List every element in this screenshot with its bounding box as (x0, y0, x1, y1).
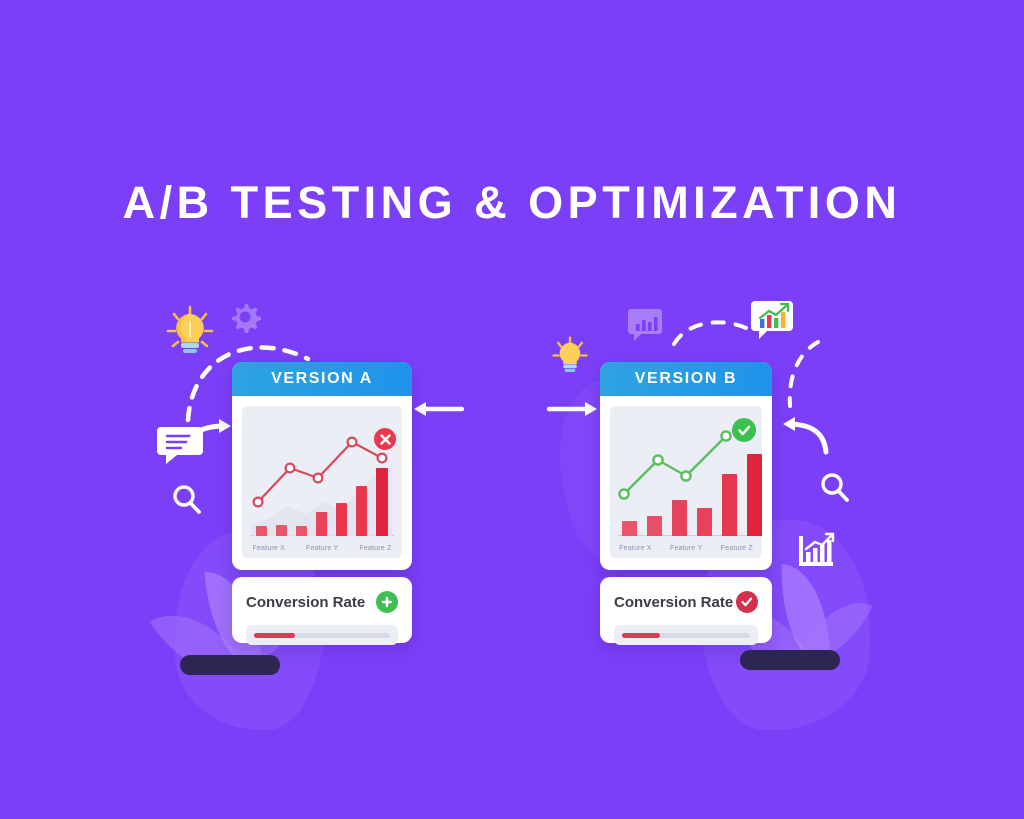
curved-arrow-icon (774, 412, 830, 456)
chart-tick-labels: Feature X Feature Y Feature Z (610, 545, 762, 552)
tick-label: Feature X (252, 545, 285, 552)
tick-label: Feature Y (306, 545, 338, 552)
page-title: A/B TESTING & OPTIMIZATION (0, 174, 1024, 232)
version-b-card[interactable]: VERSION B (600, 362, 772, 570)
check-icon (738, 425, 751, 436)
conversion-rate-label: Conversion Rate (614, 594, 733, 611)
arrow-right-icon (547, 400, 599, 418)
progress-track (254, 633, 390, 638)
device-base (740, 650, 840, 670)
conversion-progress (246, 625, 398, 645)
status-badge (732, 418, 756, 442)
version-a-conversion-card[interactable]: Conversion Rate (232, 577, 412, 643)
lightbulb-icon (552, 336, 588, 378)
progress-track (622, 633, 750, 638)
version-b-header: VERSION B (600, 362, 772, 396)
arrow-left-icon (412, 400, 464, 418)
version-b-chart: Feature X Feature Y Feature Z (610, 406, 762, 558)
search-icon (820, 472, 850, 504)
version-a-chart: Feature X Feature Y Feature Z (242, 406, 402, 558)
chart-tick-labels: Feature X Feature Y Feature Z (242, 545, 402, 552)
tick-label: Feature Y (670, 545, 702, 552)
version-a-card[interactable]: VERSION A (232, 362, 412, 570)
check-icon[interactable] (736, 591, 758, 613)
tick-label: Feature X (619, 545, 652, 552)
progress-fill (622, 633, 660, 638)
version-b-conversion-card[interactable]: Conversion Rate (600, 577, 772, 643)
chart-bubble-icon (751, 300, 793, 342)
curved-arrow-icon (186, 418, 238, 454)
device-base (180, 655, 280, 675)
status-badge (374, 428, 396, 450)
dashed-arc (778, 340, 824, 410)
conversion-progress (614, 625, 758, 645)
search-icon (172, 484, 202, 516)
tick-label: Feature Z (359, 545, 391, 552)
tick-label: Feature Z (721, 545, 753, 552)
chart-bubble-icon (628, 308, 662, 342)
progress-fill (254, 633, 295, 638)
poster-canvas: A/B TESTING & OPTIMIZATION (0, 0, 1024, 819)
close-icon (380, 434, 391, 445)
dashed-arc (672, 314, 748, 350)
conversion-rate-label: Conversion Rate (246, 594, 365, 611)
growth-chart-icon (797, 532, 835, 570)
plus-icon[interactable] (376, 591, 398, 613)
version-a-header: VERSION A (232, 362, 412, 396)
